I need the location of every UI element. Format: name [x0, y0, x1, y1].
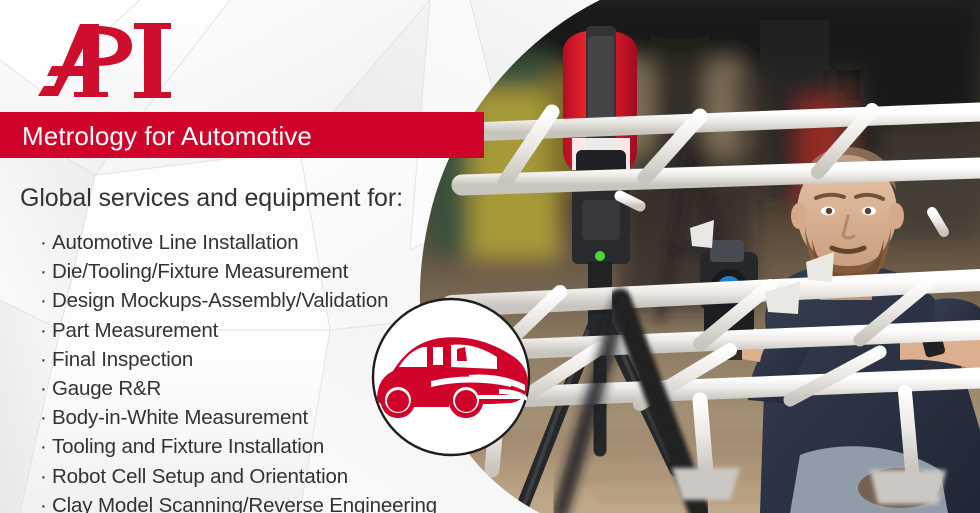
- list-item-label: Die/Tooling/Fixture Measurement: [52, 260, 348, 283]
- bullet-marker: ·: [40, 345, 52, 374]
- page-title: Metrology for Automotive: [22, 121, 312, 152]
- list-item-label: Design Mockups-Assembly/Validation: [52, 289, 388, 312]
- list-item-label: Part Measurement: [52, 319, 218, 342]
- list-item-label: Clay Model Scanning/Reverse Engineering: [52, 494, 437, 513]
- list-item: ·Automotive Line Installation: [40, 228, 437, 257]
- bullet-marker: ·: [40, 257, 52, 286]
- bullet-marker: ·: [40, 462, 52, 491]
- list-item: ·Robot Cell Setup and Orientation: [40, 462, 437, 491]
- api-logo[interactable]: [36, 22, 172, 100]
- car-badge: [371, 297, 531, 457]
- list-item-label: Tooling and Fixture Installation: [52, 435, 324, 458]
- marketing-banner: Metrology for Automotive Global services…: [0, 0, 980, 513]
- bullet-marker: ·: [40, 374, 52, 403]
- list-item-label: Final Inspection: [52, 348, 193, 371]
- bullet-marker: ·: [40, 286, 52, 315]
- bullet-marker: ·: [40, 316, 52, 345]
- bullet-marker: ·: [40, 491, 52, 513]
- bullet-marker: ·: [40, 403, 52, 432]
- list-item: ·Clay Model Scanning/Reverse Engineering: [40, 491, 437, 513]
- list-item: ·Die/Tooling/Fixture Measurement: [40, 257, 437, 286]
- list-item-label: Gauge R&R: [52, 377, 161, 400]
- list-item-label: Robot Cell Setup and Orientation: [52, 465, 348, 488]
- bullet-marker: ·: [40, 228, 52, 257]
- list-item-label: Automotive Line Installation: [52, 231, 299, 254]
- bullet-marker: ·: [40, 432, 52, 461]
- headline-text: Global services and equipment for:: [20, 184, 403, 213]
- list-item-label: Body-in-White Measurement: [52, 406, 308, 429]
